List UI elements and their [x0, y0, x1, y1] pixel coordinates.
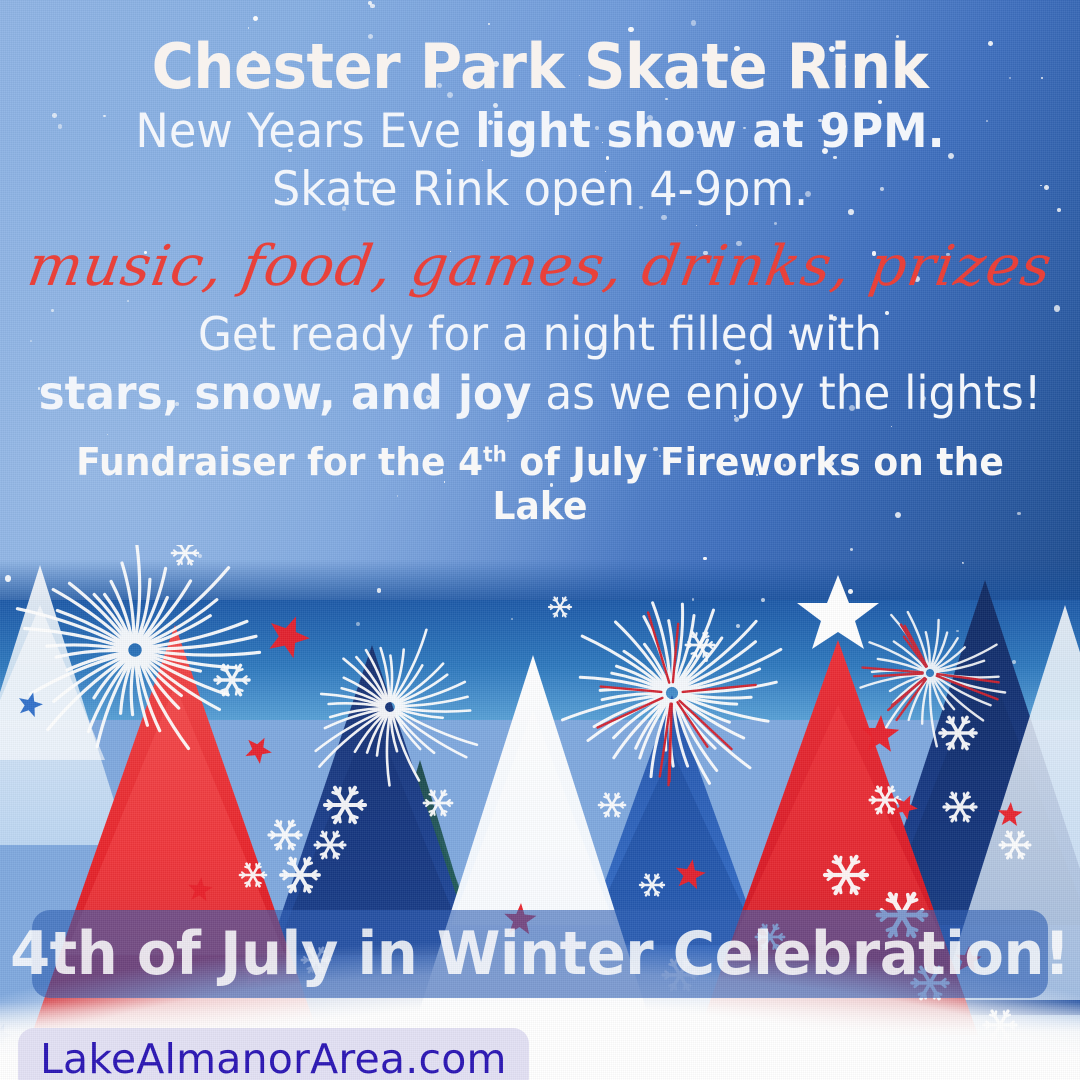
event-line: New Years Eve light show at 9PM. [27, 103, 1053, 161]
star-icon [270, 617, 311, 659]
page-title: Chester Park Skate Rink [38, 30, 1042, 103]
firework-burst-center [563, 603, 781, 785]
fundraiser-pre: Fundraiser for the 4 [76, 440, 483, 484]
celebration-banner-text: 4th of July in Winter Celebration! [10, 919, 1070, 989]
poster-copy: Chester Park Skate Rink New Years Eve li… [0, 0, 1080, 528]
event-line-bold: light show at 9PM. [475, 104, 944, 159]
fundraiser-ordinal-suffix: th [483, 442, 507, 466]
snowflake-icon [172, 545, 198, 564]
website-pill[interactable]: LakeAlmanorArea.com [18, 1028, 529, 1080]
snowflake-icon [269, 821, 301, 849]
snowflake-icon [599, 794, 625, 817]
website-url[interactable]: LakeAlmanorArea.com [40, 1035, 507, 1080]
snowflake-icon [549, 598, 571, 617]
star-icon [245, 738, 271, 764]
body-line-2-rest: as we enjoy the lights! [532, 366, 1042, 420]
body-line-1: Get ready for a night filled with [27, 305, 1053, 365]
body-line-2-bold: stars, snow, and joy [39, 366, 532, 420]
hours-line: Skate Rink open 4-9pm. [27, 161, 1053, 219]
winter-scene-artwork [0, 545, 1080, 1080]
white-star-topper [797, 575, 879, 649]
body-line-2: stars, snow, and joy as we enjoy the lig… [27, 364, 1053, 424]
amenities-script-line: music, food, games, drinks, prizes [0, 234, 1080, 299]
event-poster: Chester Park Skate Rink New Years Eve li… [0, 0, 1080, 1080]
fundraiser-post: of July Fireworks on the Lake [493, 440, 1004, 528]
celebration-banner: 4th of July in Winter Celebration! [32, 910, 1048, 998]
fundraiser-line: Fundraiser for the 4th of July Fireworks… [27, 440, 1053, 528]
snowflake-icon [215, 665, 249, 694]
event-line-prefix: New Years Eve [135, 104, 475, 159]
